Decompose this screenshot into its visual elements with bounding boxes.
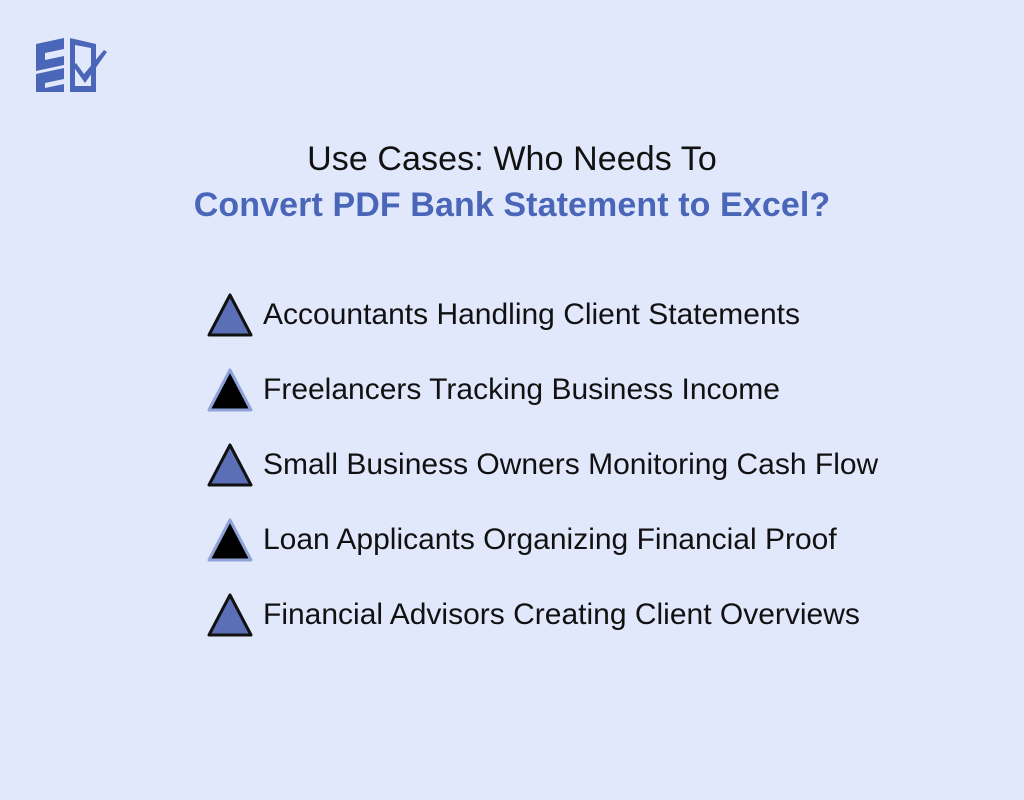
list-item: Small Business Owners Monitoring Cash Fl… [205,438,1005,492]
triangle-bullet-icon [205,442,255,488]
list-item: Accountants Handling Client Statements [205,288,1005,342]
triangle-bullet-icon [205,292,255,338]
list-item-label: Small Business Owners Monitoring Cash Fl… [263,447,1005,483]
logo-left-page [36,38,64,92]
triangle-bullet-icon [205,517,255,563]
logo-check-mark [73,50,107,83]
list-item: Financial Advisors Creating Client Overv… [205,588,1005,642]
list-item-label: Loan Applicants Organizing Financial Pro… [263,522,1005,558]
list-item-label: Freelancers Tracking Business Income [263,372,1005,408]
list-item: Freelancers Tracking Business Income [205,363,1005,417]
ledger-check-logo [34,36,114,94]
triangle-bullet-icon [205,367,255,413]
triangle-bullet-icon [205,592,255,638]
page-title-line-2: Convert PDF Bank Statement to Excel? [0,182,1024,228]
list-item-label: Accountants Handling Client Statements [263,297,1005,333]
list-item-label: Financial Advisors Creating Client Overv… [263,597,1005,633]
usecase-list: Accountants Handling Client Statements F… [205,288,1005,642]
page-title: Use Cases: Who Needs To Convert PDF Bank… [0,136,1024,228]
list-item: Loan Applicants Organizing Financial Pro… [205,513,1005,567]
page-title-line-1: Use Cases: Who Needs To [0,136,1024,182]
slide-canvas: Use Cases: Who Needs To Convert PDF Bank… [0,0,1024,800]
